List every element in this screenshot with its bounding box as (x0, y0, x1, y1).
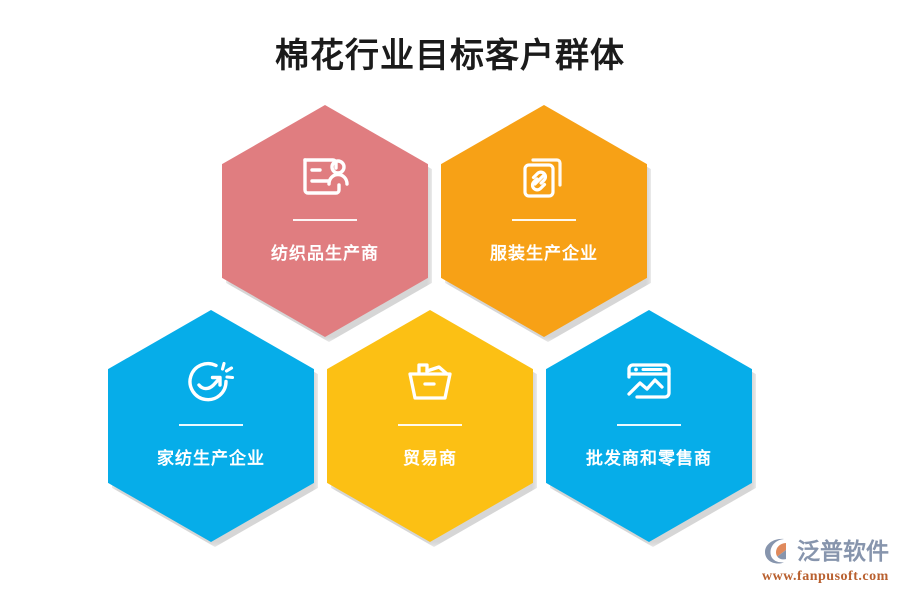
hex-label-trade: 贸易商 (403, 448, 457, 470)
hex-label-apparel: 服装生产企业 (490, 243, 598, 265)
infographic-canvas: 棉花行业目标客户群体 纺织品生产商 (0, 0, 900, 600)
brand-logo[interactable]: 泛普软件 www.fanpusoft.com (762, 534, 892, 590)
chart-window-icon (618, 354, 680, 408)
growth-arrow-circle-icon (180, 354, 242, 408)
hex-label-homefab: 家纺生产企业 (157, 448, 265, 470)
shopping-basket-icon (399, 354, 461, 408)
hex-divider (179, 424, 243, 426)
page-title: 棉花行业目标客户群体 (0, 33, 900, 79)
fanpu-swoosh-logo-icon (762, 536, 794, 566)
linked-documents-icon (513, 149, 575, 203)
hex-label-wholesale: 批发商和零售商 (586, 448, 712, 470)
brand-name: 泛普软件 (797, 536, 889, 566)
hex-divider (398, 424, 462, 426)
hex-divider (512, 219, 576, 221)
hex-divider (617, 424, 681, 426)
id-card-contact-icon (294, 149, 356, 203)
hex-label-textile: 纺织品生产商 (271, 243, 379, 265)
brand-row: 泛普软件 (762, 534, 892, 568)
hex-divider (293, 219, 357, 221)
brand-url: www.fanpusoft.com (762, 569, 892, 585)
